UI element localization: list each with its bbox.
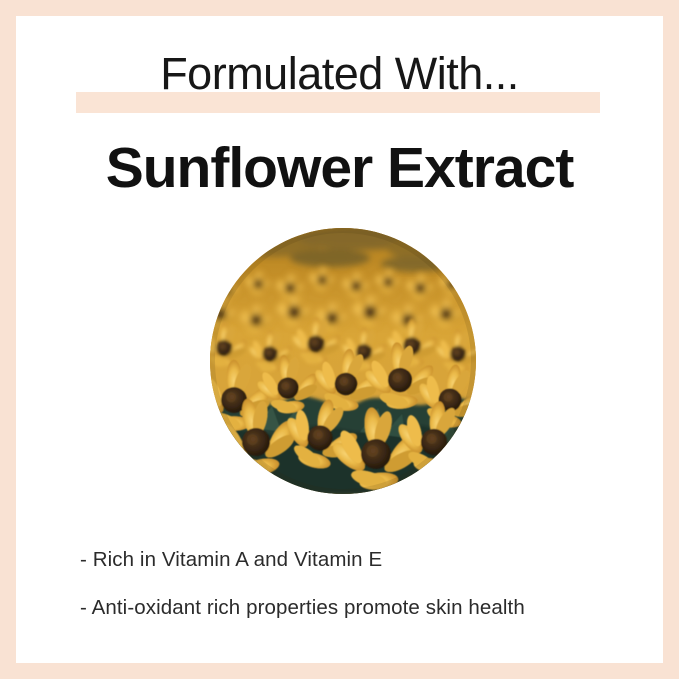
card-inner-surface: Formulated With... Sunflower Extract <box>16 16 663 663</box>
list-item: - Anti-oxidant rich properties promote s… <box>80 584 640 632</box>
headline-secondary: Sunflower Extract <box>16 136 663 200</box>
headline-primary: Formulated With... <box>16 48 663 100</box>
list-item: - Rich in Vitamin A and Vitamin E <box>80 536 640 584</box>
benefits-list: - Rich in Vitamin A and Vitamin E - Anti… <box>80 536 640 632</box>
product-ingredient-card: Formulated With... Sunflower Extract <box>0 0 679 679</box>
sunflower-field-photo <box>210 228 476 494</box>
